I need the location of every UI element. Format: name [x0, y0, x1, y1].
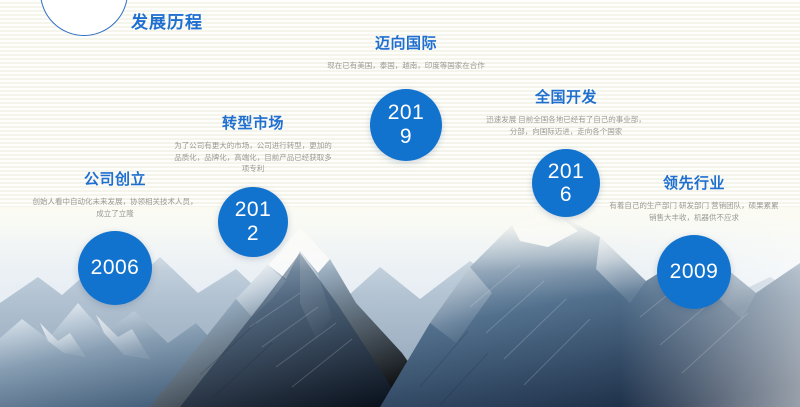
milestone-2012: 转型市场 为了公司有更大的市场，公司进行转型，更加的品质化，品牌化，高端化，目前… — [173, 112, 333, 257]
page-title: 发展历程 — [131, 8, 203, 33]
milestone-year-circle[interactable]: 2016 — [532, 149, 600, 217]
milestone-year-circle[interactable]: 2019 — [370, 89, 442, 161]
milestone-2009: 领先行业 有着自己的生产部门 研发部门 营销团队，硕果累累 销售大丰收，机器供不… — [608, 172, 780, 309]
milestone-title: 领先行业 — [608, 172, 780, 193]
milestone-year-wrap: 2019 — [322, 72, 490, 161]
milestone-title: 全国开发 — [483, 86, 649, 107]
milestone-year-circle[interactable]: 2009 — [657, 235, 731, 309]
milestone-year-circle[interactable]: 2006 — [78, 231, 152, 305]
milestone-title: 转型市场 — [173, 112, 333, 133]
milestone-title: 迈向国际 — [322, 32, 490, 53]
milestone-year-circle[interactable]: 2012 — [218, 187, 288, 257]
milestone-description: 迅速发展 目前全国各地已经有了自己的事业部，分部，向国际迈进，走向各个国家 — [483, 114, 649, 137]
header-circle-decoration — [40, 0, 128, 36]
milestone-description: 为了公司有更大的市场，公司进行转型，更加的品质化，品牌化，高端化，目前产品已经获… — [173, 140, 333, 175]
milestone-year-wrap: 2009 — [608, 223, 780, 309]
milestone-description: 有着自己的生产部门 研发部门 营销团队，硕果累累 销售大丰收，机器供不应求 — [608, 200, 780, 223]
slide-canvas: 发展历程 公司创立 创始人看中自动化未来发展，协领相关技术人员，成立了立隆 20… — [0, 0, 800, 407]
milestone-description: 现在已有美国，泰国，越南，印度等国家在合作 — [322, 60, 490, 72]
milestone-2019: 迈向国际 现在已有美国，泰国，越南，印度等国家在合作 2019 — [322, 32, 490, 161]
milestone-year-wrap: 2012 — [173, 175, 333, 257]
